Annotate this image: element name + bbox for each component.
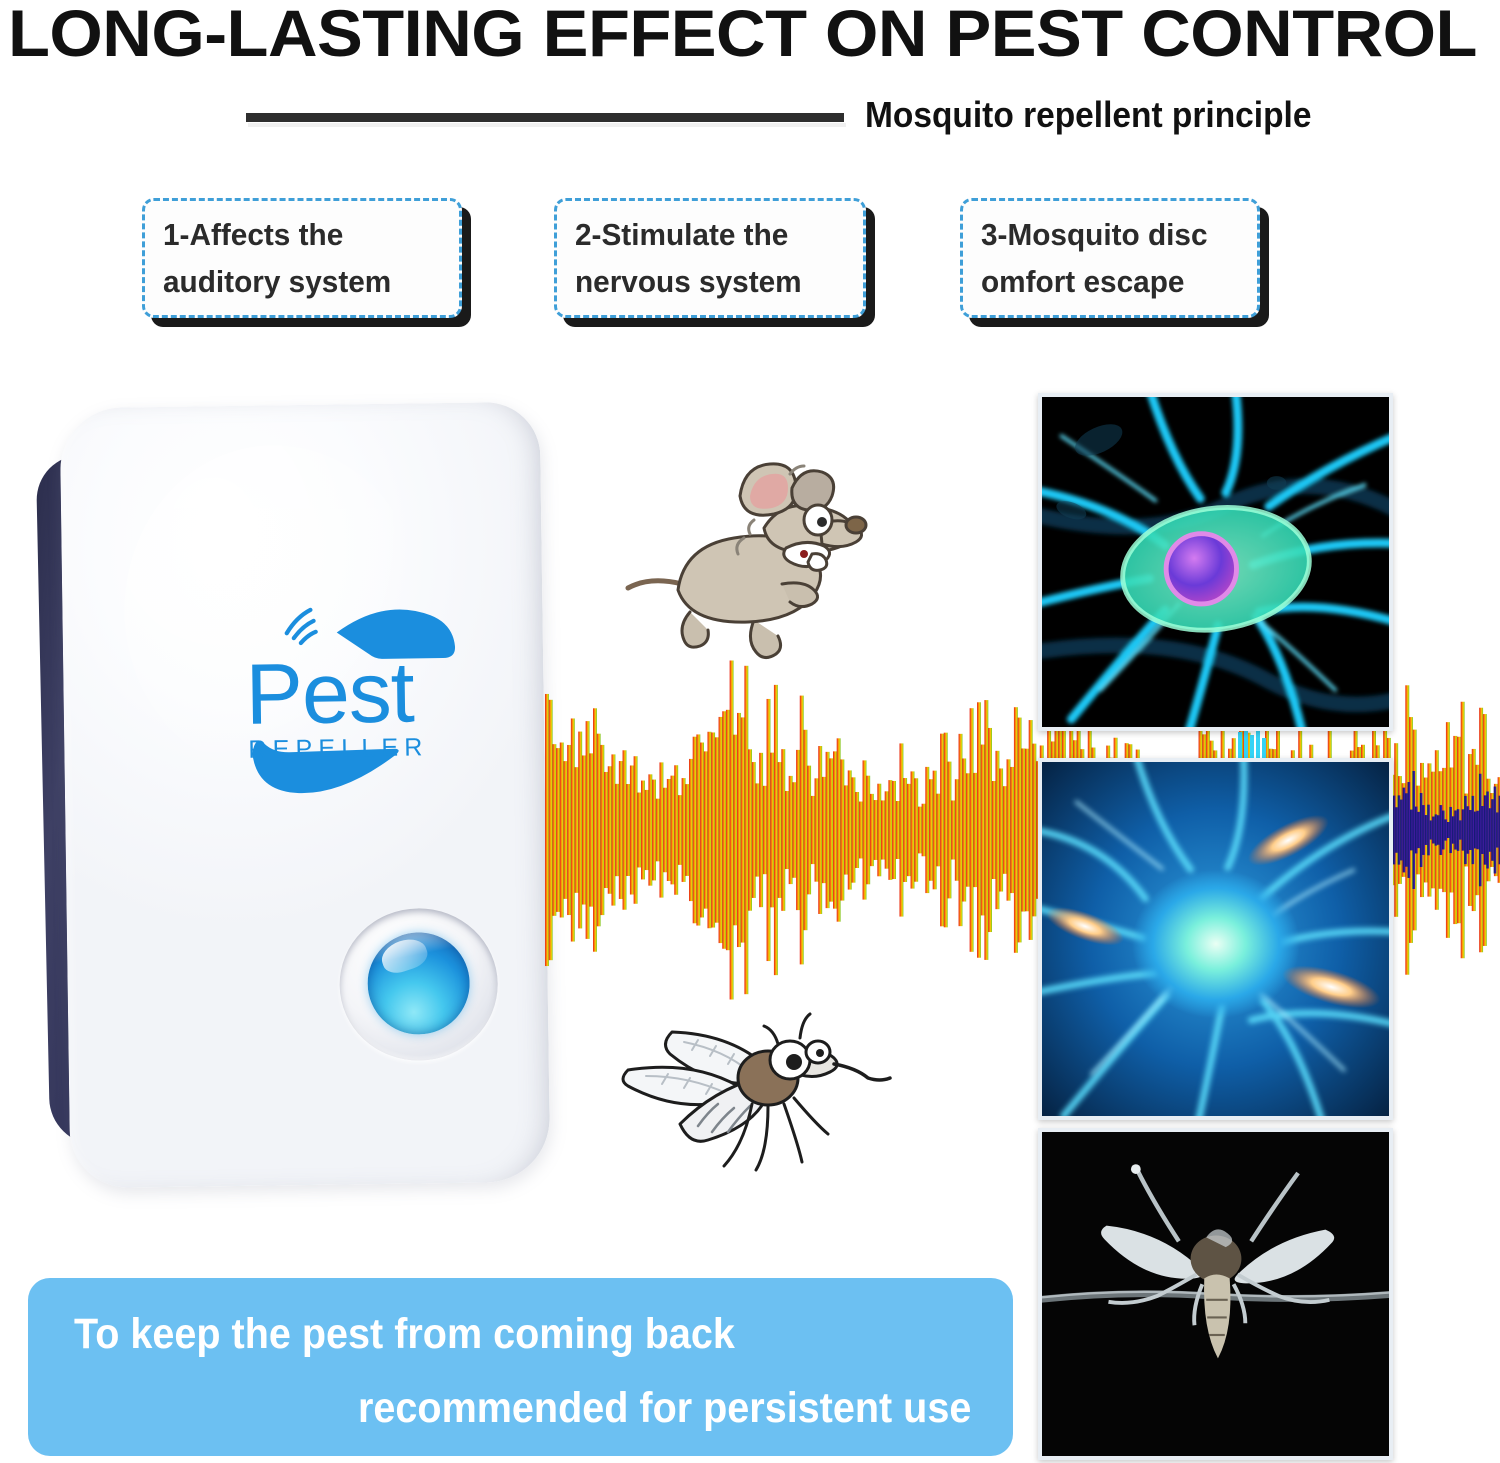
led-lens xyxy=(367,932,470,1035)
title-divider-shadow xyxy=(248,123,846,127)
cartoon-mosquito-illustration xyxy=(612,1012,902,1194)
waveform-bridge-segment xyxy=(1232,728,1276,762)
fleeing-mouse-illustration xyxy=(604,462,882,690)
banner-line-2: recommended for persistent use xyxy=(358,1382,971,1434)
step-1-line-2: auditory system xyxy=(163,264,391,299)
step-box-3: 3-Mosquito disc omfort escape xyxy=(960,198,1260,318)
recommendation-banner: To keep the pest from coming back recomm… xyxy=(28,1278,1013,1456)
neuron-cell-photo xyxy=(1038,393,1393,731)
title-divider-bar xyxy=(246,113,844,122)
device-front-body: Pest REPELLER xyxy=(60,402,551,1189)
step-2-line-2: nervous system xyxy=(575,264,802,299)
step-box-2: 2-Stimulate the nervous system xyxy=(554,198,866,318)
svg-text:Pest: Pest xyxy=(245,644,416,742)
svg-text:REPELLER: REPELLER xyxy=(248,733,429,764)
step-box-1: 1-Affects the auditory system xyxy=(142,198,462,318)
step-2-text: 2-Stimulate the nervous system xyxy=(575,211,846,305)
pest-repeller-logo: Pest REPELLER xyxy=(232,573,485,806)
waveform-tail xyxy=(1378,755,1500,905)
page-subtitle: Mosquito repellent principle xyxy=(865,92,1423,138)
neuron-impulse-photo xyxy=(1038,758,1393,1120)
pest-repeller-device: Pest REPELLER xyxy=(35,395,560,1195)
step-1-text: 1-Affects the auditory system xyxy=(163,211,441,305)
step-3-line-1: 3-Mosquito disc xyxy=(981,217,1208,252)
led-indicator-button[interactable] xyxy=(339,907,499,1061)
page-title: LONG-LASTING EFFECT ON PEST CONTROL xyxy=(8,0,1500,68)
step-1-line-1: 1-Affects the xyxy=(163,217,343,252)
step-3-text: 3-Mosquito disc omfort escape xyxy=(981,211,1240,305)
banner-line-1: To keep the pest from coming back xyxy=(74,1308,735,1360)
step-3-line-2: omfort escape xyxy=(981,264,1184,299)
step-2-line-1: 2-Stimulate the xyxy=(575,217,788,252)
mosquito-photo xyxy=(1038,1128,1393,1460)
